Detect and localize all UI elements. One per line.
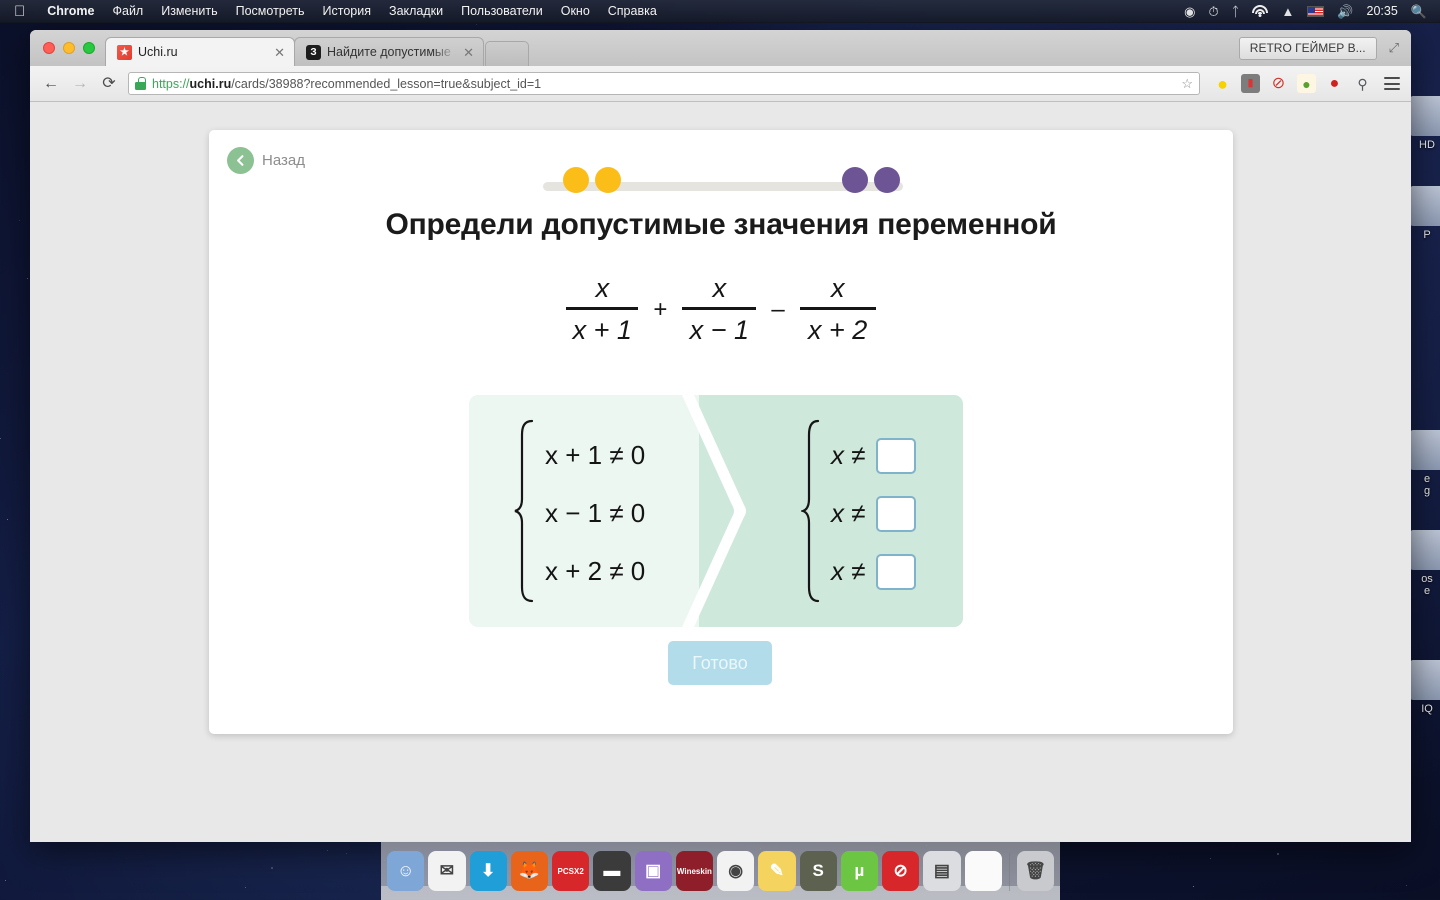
dock-item-wineskin[interactable]: Wineskin	[676, 851, 713, 891]
close-tab-icon[interactable]: ✕	[462, 46, 475, 59]
menubar-clock[interactable]: 20:35	[1367, 4, 1398, 18]
fraction-numerator: x	[831, 273, 845, 307]
fraction-denominator: x − 1	[690, 310, 749, 346]
answer-prefix: x ≠	[831, 440, 866, 471]
apple-logo-icon[interactable]: 	[14, 4, 25, 19]
tab-znanija[interactable]: З Найдите допустимые зна ✕	[294, 37, 484, 66]
dock-item-finder[interactable]: ☺	[387, 851, 424, 891]
dock-item-document[interactable]	[965, 851, 1002, 891]
page-viewport: Назад Определи допустимые значения перем…	[30, 102, 1411, 842]
time-machine-icon[interactable]: ⏱	[1209, 5, 1219, 18]
dock-item-mail[interactable]: ✉	[428, 851, 465, 891]
close-window-button[interactable]	[43, 42, 55, 54]
dock-item-glyph: PCSX2	[558, 867, 584, 876]
desktop-icon-glyph	[1410, 530, 1440, 570]
lesson-progress-bar	[543, 160, 903, 194]
fraction-denominator: x + 2	[808, 310, 867, 346]
menu-item-history[interactable]: История	[314, 4, 380, 18]
dock-item-glyph: 🗑	[1025, 861, 1047, 881]
menu-item-users[interactable]: Пользователи	[452, 4, 552, 18]
dock-item-glyph: µ	[855, 861, 865, 881]
fraction-1: x x + 1	[566, 273, 638, 346]
bluetooth-icon[interactable]: ᛏ	[1232, 5, 1240, 18]
dock-item-glyph: ☺	[397, 861, 414, 881]
answer-row-1: x ≠	[831, 439, 916, 473]
tab-strip: ★ Uchi.ru ✕ З Найдите допустимые зна ✕ R…	[30, 30, 1411, 66]
dock-item-glyph: ⊘	[894, 861, 908, 881]
chrome-menu-icon[interactable]	[1384, 77, 1400, 90]
car-extension-icon[interactable]: ▮	[1241, 74, 1260, 93]
dock-item-cleanmymac[interactable]: ⊘	[882, 851, 919, 891]
uchi-favicon-icon: ★	[117, 45, 132, 60]
condition-row: x + 1 ≠ 0	[545, 439, 645, 473]
desktop-icon-glyph	[1410, 660, 1440, 700]
answer-row-2: x ≠	[831, 497, 916, 531]
question-title: Определи допустимые значения переменной	[209, 208, 1233, 242]
dock-item-app-folder[interactable]: ▤	[923, 851, 960, 891]
fraction-3: x x + 2	[800, 273, 876, 346]
window-controls	[39, 30, 105, 66]
dock-item-firefox[interactable]: 🦊	[511, 851, 548, 891]
menu-item-file[interactable]: Файл	[103, 4, 152, 18]
desktop-icon-glyph	[1410, 430, 1440, 470]
menu-item-bookmarks[interactable]: Закладки	[380, 4, 452, 18]
url-text: https://uchi.ru/cards/38988?recommended_…	[152, 77, 1175, 91]
condition-row: x + 2 ≠ 0	[545, 555, 645, 589]
progress-dot-4[interactable]	[874, 167, 900, 193]
dock-item-glyph: 🦊	[519, 861, 540, 881]
left-curly-brace-icon	[801, 419, 821, 608]
answer-input-2[interactable]	[876, 496, 916, 532]
math-expression: x x + 1 + x x − 1 – x x + 2	[209, 273, 1233, 346]
left-curly-brace-icon	[513, 419, 535, 608]
answer-prefix: x ≠	[831, 498, 866, 529]
forward-button[interactable]: →	[70, 74, 90, 94]
zoom-window-button[interactable]	[83, 42, 95, 54]
arrow-separator-icon	[682, 395, 750, 627]
dock-item-glyph: ▣	[645, 861, 661, 881]
znanija-favicon-icon: З	[306, 45, 321, 60]
close-tab-icon[interactable]: ✕	[273, 46, 286, 59]
back-link-label: Назад	[262, 152, 305, 169]
chevron-left-icon	[227, 147, 254, 174]
bookmark-star-icon[interactable]: ☆	[1181, 76, 1193, 92]
tab-title: Найдите допустимые зна	[327, 45, 456, 59]
dock-item-glyph: ✎	[770, 861, 784, 881]
dock-item-trash[interactable]: 🗑	[1017, 851, 1054, 891]
new-tab-button[interactable]	[485, 41, 529, 66]
eject-icon[interactable]: ▲	[1281, 5, 1294, 18]
dock-item-downloader[interactable]: ⬇	[470, 851, 507, 891]
dock-separator	[1009, 853, 1010, 891]
solution-panel: x + 1 ≠ 0 x − 1 ≠ 0 x + 2 ≠ 0 x ≠	[469, 395, 963, 627]
profile-button[interactable]: RETRO ГЕЙМЕР В...	[1239, 37, 1377, 60]
menu-item-chrome[interactable]: Chrome	[38, 4, 103, 18]
fraction-numerator: x	[596, 273, 610, 307]
dock-item-stalker[interactable]: S	[800, 851, 837, 891]
fullscreen-icon[interactable]: ⤢	[1389, 40, 1399, 56]
operator-minus: –	[758, 296, 797, 324]
fraction-2: x x − 1	[682, 273, 756, 346]
fraction-denominator: x + 1	[573, 310, 632, 346]
desktop-icon-glyph	[1410, 186, 1440, 226]
progress-dot-2[interactable]	[595, 167, 621, 193]
browser-toolbar: ← → ⟳ https://uchi.ru/cards/38988?recomm…	[30, 66, 1411, 102]
dock-item-glyph: ▬	[603, 861, 620, 881]
search-icon[interactable]: 🔍	[1411, 5, 1427, 18]
fraction-numerator: x	[713, 273, 727, 307]
conditions-system: x + 1 ≠ 0 x − 1 ≠ 0 x + 2 ≠ 0	[513, 419, 645, 608]
wifi-icon[interactable]	[1252, 5, 1268, 17]
menu-item-help[interactable]: Справка	[599, 4, 666, 18]
dock-item-pcsx2[interactable]: PCSX2	[552, 851, 589, 891]
answer-input-1[interactable]	[876, 438, 916, 474]
url-path: /cards/38988?recommended_lesson=true&sub…	[231, 77, 541, 91]
tab-title: Uchi.ru	[138, 45, 267, 59]
address-bar[interactable]: https://uchi.ru/cards/38988?recommended_…	[128, 72, 1200, 95]
dock-item-chrome[interactable]: ◉	[717, 851, 754, 891]
back-button[interactable]: ←	[41, 74, 61, 94]
progress-dot-3[interactable]	[842, 167, 868, 193]
done-button[interactable]: Готово	[668, 641, 772, 685]
chrome-browser-window: ★ Uchi.ru ✕ З Найдите допустимые зна ✕ R…	[30, 30, 1411, 842]
green-character-extension-icon[interactable]: ●	[1297, 74, 1316, 93]
no-ads-extension-icon[interactable]: ⊘	[1269, 74, 1288, 93]
answer-prefix: x ≠	[831, 556, 866, 587]
dock-item-glyph: ◉	[728, 861, 743, 881]
answers-list: x ≠ x ≠ x ≠	[831, 439, 916, 589]
pacman-extension-icon[interactable]: ●	[1213, 74, 1232, 93]
condition-row: x − 1 ≠ 0	[545, 497, 645, 531]
extensions-bar: ● ▮ ⊘ ● ● ⚲	[1209, 74, 1400, 93]
macos-dock: ☺✉⬇🦊PCSX2▬▣Wineskin◉✎Sµ⊘▤🗑	[381, 840, 1060, 900]
menu-item-view[interactable]: Посмотреть	[227, 4, 314, 18]
progress-dot-1[interactable]	[563, 167, 589, 193]
dock-item-design-app[interactable]: ✎	[758, 851, 795, 891]
mario-extension-icon[interactable]: ●	[1325, 74, 1344, 93]
spiral-extension-icon[interactable]: ⚲	[1353, 74, 1372, 93]
minimize-window-button[interactable]	[63, 42, 75, 54]
answer-input-3[interactable]	[876, 554, 916, 590]
desktop-icon-glyph	[1410, 96, 1440, 136]
url-scheme: https://	[152, 77, 190, 91]
dock-item-glyph: S	[812, 861, 823, 881]
dock-item-glyph: Wineskin	[677, 867, 712, 876]
menu-item-edit[interactable]: Изменить	[152, 4, 226, 18]
dock-item-utorrent[interactable]: µ	[841, 851, 878, 891]
lock-icon	[135, 77, 146, 90]
back-link[interactable]: Назад	[227, 147, 305, 174]
operator-plus: +	[640, 296, 680, 324]
conditions-list: x + 1 ≠ 0 x − 1 ≠ 0 x + 2 ≠ 0	[545, 439, 645, 589]
volume-icon[interactable]: 🔊	[1337, 5, 1353, 18]
dropbox-icon[interactable]: ◉	[1184, 5, 1195, 18]
answer-row-3: x ≠	[831, 555, 916, 589]
menu-item-window[interactable]: Окно	[552, 4, 599, 18]
answers-system: x ≠ x ≠ x ≠	[801, 419, 916, 608]
macos-menu-bar:  Chrome Файл Изменить Посмотреть Истори…	[0, 0, 1440, 23]
dock-item-glyph: ▤	[934, 861, 950, 881]
url-host: uchi.ru	[190, 77, 232, 91]
flag-us-icon[interactable]	[1307, 6, 1324, 17]
dock-item-glyph: ⬇	[481, 861, 495, 881]
dock-item-gba-emulator[interactable]: ▣	[635, 851, 672, 891]
tab-uchi[interactable]: ★ Uchi.ru ✕	[105, 37, 295, 66]
dock-item-ps2-device[interactable]: ▬	[593, 851, 630, 891]
reload-button[interactable]: ⟳	[99, 74, 119, 94]
dock-item-glyph: ✉	[440, 861, 454, 881]
lesson-card: Назад Определи допустимые значения перем…	[209, 130, 1233, 734]
